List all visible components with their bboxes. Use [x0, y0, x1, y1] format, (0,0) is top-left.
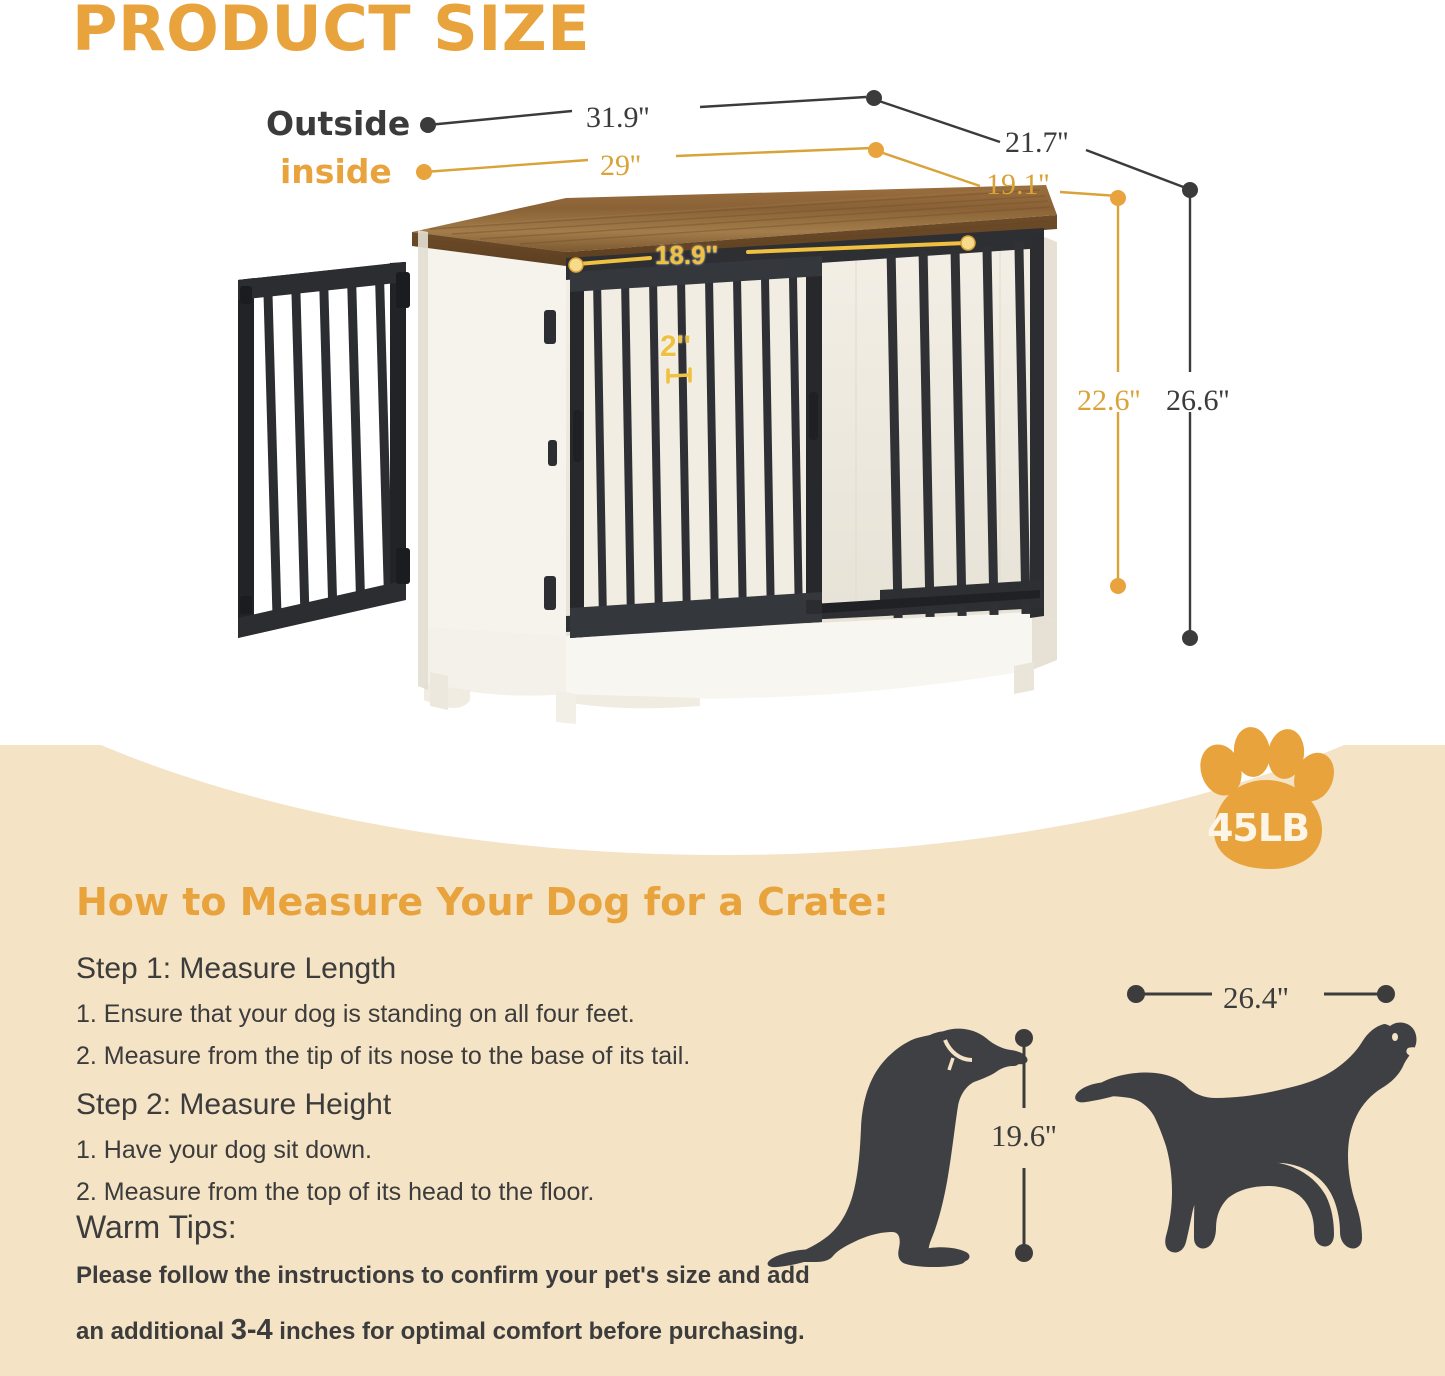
infographic-page: PRODUCT SIZE [0, 0, 1445, 1376]
tips-line-1: Please follow the instructions to confir… [76, 1262, 810, 1290]
dimension-outside-depth: 21.7'' [1005, 126, 1068, 160]
dimension-inside-height: 22.6'' [1077, 384, 1140, 418]
page-title: PRODUCT SIZE [72, 0, 590, 66]
guide-heading: How to Measure Your Dog for a Crate: [76, 880, 889, 924]
dimension-bar-spacing: 2'' [660, 330, 691, 364]
tips-line-2: an additional 3-4 inches for optimal com… [76, 1314, 805, 1347]
dimension-outside-height: 26.6'' [1166, 384, 1229, 418]
paw-icon [1174, 727, 1344, 872]
step2-line1: 1. Have your dog sit down. [76, 1136, 372, 1165]
dog-standing-length-label: 26.4'' [1223, 980, 1288, 1016]
tips-line-2-suffix: inches for optimal comfort before purcha… [273, 1318, 805, 1345]
dimension-outside-width: 31.9'' [586, 101, 649, 135]
legend-outside-label: Outside [266, 104, 410, 143]
tips-inches-emphasis: 3-4 [231, 1314, 273, 1346]
dimension-door-width: 18.9'' [655, 240, 718, 271]
dog-sitting-height-label: 19.6'' [991, 1118, 1056, 1154]
step1-line2: 2. Measure from the tip of its nose to t… [76, 1042, 690, 1071]
step2-line2: 2. Measure from the top of its head to t… [76, 1178, 594, 1207]
capacity-weight-label: 45LB [1183, 806, 1333, 850]
tips-heading: Warm Tips: [76, 1209, 237, 1246]
step1-title: Step 1: Measure Length [76, 952, 396, 986]
step1-line1: 1. Ensure that your dog is standing on a… [76, 1000, 635, 1029]
tips-line-2-prefix: an additional [76, 1318, 231, 1345]
legend-inside-label: inside [280, 152, 392, 191]
dimension-inside-width: 29'' [600, 149, 641, 183]
step2-title: Step 2: Measure Height [76, 1088, 391, 1122]
dimension-inside-depth: 19.1'' [986, 168, 1049, 202]
